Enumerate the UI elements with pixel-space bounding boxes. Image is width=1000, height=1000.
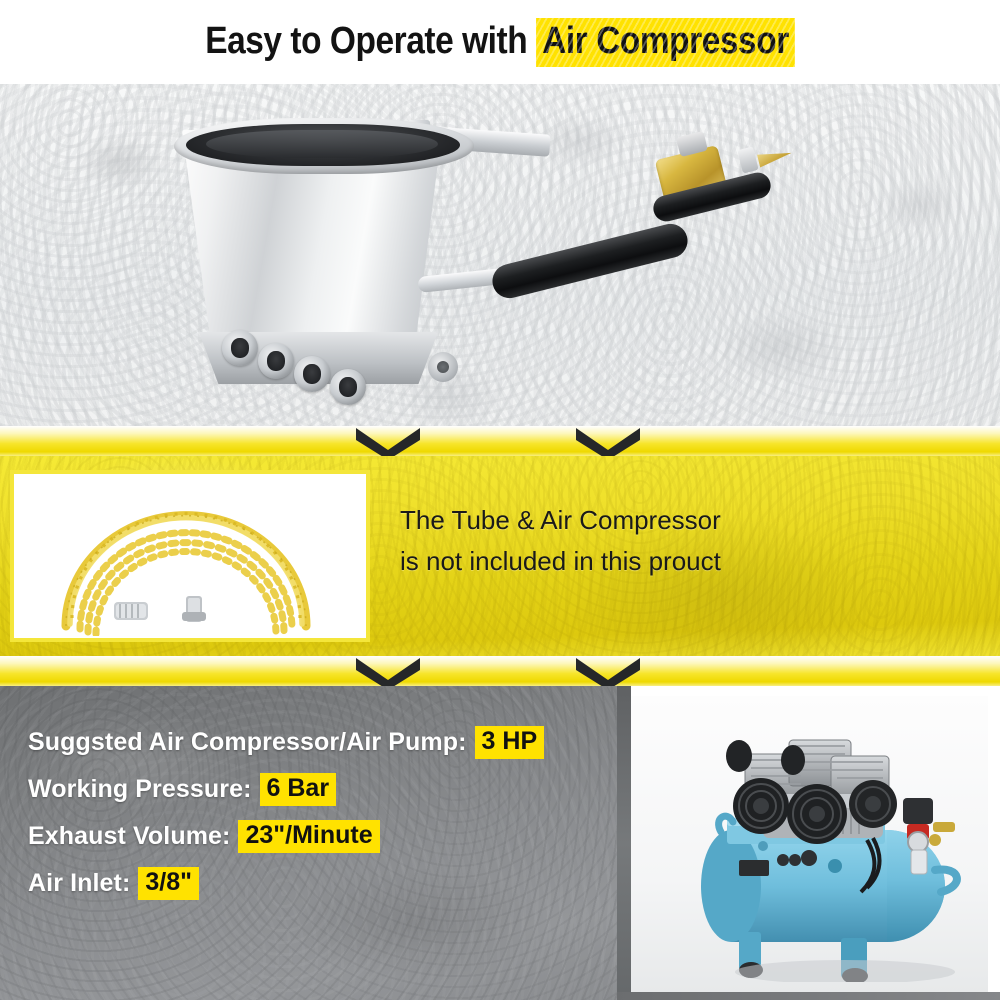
coiled-air-hose-image bbox=[36, 486, 336, 636]
note-line-2: is not included in this prouct bbox=[400, 541, 960, 582]
panel-edge-bottom bbox=[617, 992, 1000, 1000]
chevron-down-icon bbox=[352, 420, 424, 460]
spec-value: 23"/Minute bbox=[238, 820, 379, 853]
hopper-mouth-inner bbox=[206, 130, 438, 158]
divider-two bbox=[0, 656, 1000, 690]
spec-value: 6 Bar bbox=[260, 773, 337, 806]
spec-label: Suggsted Air Compressor/Air Pump: bbox=[28, 728, 467, 757]
specifications-list: Suggsted Air Compressor/Air Pump: 3 HP W… bbox=[28, 726, 608, 914]
divider-one bbox=[0, 426, 1000, 460]
panel-edge-left bbox=[617, 686, 631, 1000]
title-prefix: Easy to Operate with bbox=[205, 20, 527, 62]
tube-image-card bbox=[10, 470, 370, 642]
header-title-bar: Easy to Operate with Air Compressor bbox=[0, 0, 1000, 84]
note-line-1: The Tube & Air Compressor bbox=[400, 500, 960, 541]
note-text: The Tube & Air Compressor is not include… bbox=[400, 500, 960, 582]
spec-label: Working Pressure: bbox=[28, 775, 252, 804]
product-infographic: Easy to Operate with Air Compressor bbox=[0, 0, 1000, 1000]
chevron-down-icon bbox=[352, 650, 424, 690]
nozzle-port-4 bbox=[330, 369, 366, 405]
nozzle-port-1 bbox=[222, 330, 258, 366]
nozzle-port-2 bbox=[258, 343, 294, 379]
page-title: Easy to Operate with Air Compressor bbox=[205, 18, 795, 67]
spec-value: 3 HP bbox=[475, 726, 545, 759]
spec-row: Working Pressure: 6 Bar bbox=[28, 773, 608, 806]
stucco-sprayer-product-image bbox=[160, 100, 580, 400]
spec-label: Exhaust Volume: bbox=[28, 822, 230, 851]
spec-row: Suggsted Air Compressor/Air Pump: 3 HP bbox=[28, 726, 608, 759]
spec-row: Air Inlet: 3/8" bbox=[28, 867, 608, 900]
spec-row: Exhaust Volume: 23"/Minute bbox=[28, 820, 608, 853]
spec-value: 3/8" bbox=[138, 867, 199, 900]
hopper-air-fitting bbox=[428, 352, 458, 382]
note-panel: The Tube & Air Compressor is not include… bbox=[0, 456, 1000, 656]
title-highlight: Air Compressor bbox=[536, 18, 795, 67]
chevron-down-icon bbox=[572, 650, 644, 690]
specs-panel: Suggsted Air Compressor/Air Pump: 3 HP W… bbox=[0, 686, 1000, 1000]
hero-panel bbox=[0, 84, 1000, 440]
nozzle-port-3 bbox=[294, 356, 330, 392]
spec-label: Air Inlet: bbox=[28, 869, 130, 898]
compressor-image-card bbox=[617, 686, 1000, 1000]
chevron-down-icon bbox=[572, 420, 644, 460]
compressor-image bbox=[629, 696, 988, 992]
